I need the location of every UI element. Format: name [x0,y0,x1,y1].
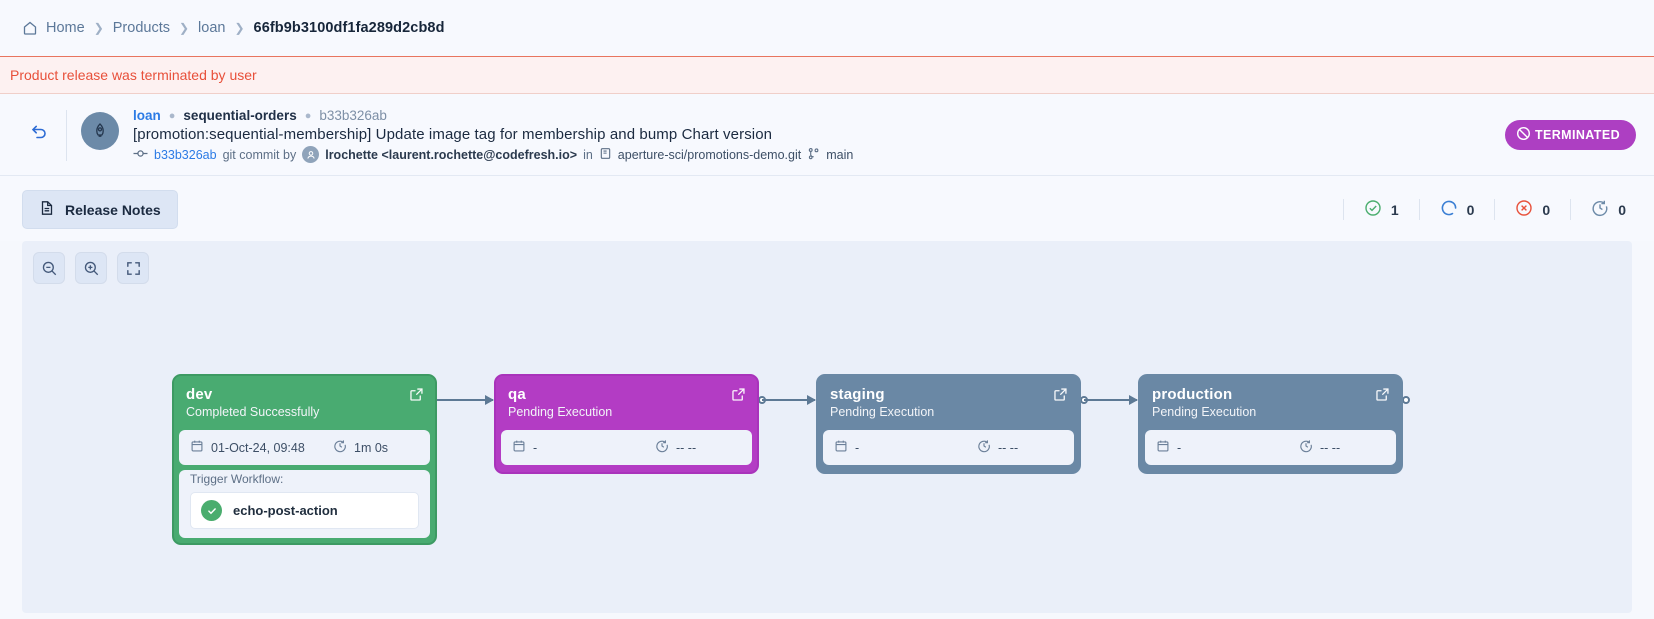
calendar-icon [834,439,848,456]
counter-succeeded[interactable]: 1 [1343,199,1420,220]
zoom-in-button[interactable] [75,252,107,284]
connector-qa-staging [762,399,815,401]
breadcrumb: Home ❯ Products ❯ loan ❯ 66fb9b3100df1fa… [0,0,1654,56]
error-circle-icon [1515,199,1533,220]
external-link-icon[interactable] [1053,387,1068,405]
stage-duration: -- -- [1299,439,1385,456]
calendar-icon [190,439,204,456]
stage-date: - [834,439,859,456]
tab-release-notes-label: Release Notes [65,202,161,218]
clock-icon [333,439,347,456]
stage-duration-value: -- -- [676,441,696,455]
breadcrumb-home-label[interactable]: Home [46,20,85,36]
tab-release-notes[interactable]: Release Notes [22,190,178,229]
branch-name: main [826,148,853,162]
status-badge[interactable]: TERMINATED [1505,120,1636,150]
canvas-zoom-tools [33,252,149,284]
clock-icon [1591,199,1609,220]
spinner-icon [1440,199,1458,220]
stage-duration-value: -- -- [998,441,1018,455]
pipeline-canvas[interactable]: dev Completed Successfully 01-Oct-24, [22,241,1632,613]
stage-header: qa Pending Execution [496,376,757,430]
clock-icon [1299,439,1313,456]
breadcrumb-current-id: 66fb9b3100df1fa289d2cb8d [254,20,445,36]
counter-pending-value: 0 [1618,202,1626,218]
rocket-icon [81,112,119,150]
connector-dot [1402,396,1410,404]
stage-name: dev [186,386,423,403]
stage-status: Pending Execution [1152,405,1389,419]
stage-meta: 01-Oct-24, 09:48 1m 0s [179,430,430,465]
stage-duration: -- -- [977,439,1063,456]
release-title: [promotion:sequential-membership] Update… [133,126,853,143]
workflow-success-icon [201,500,222,521]
connector-staging-production [1084,399,1137,401]
check-circle-icon [1364,199,1382,220]
stage-date-value: - [1177,441,1181,455]
external-link-icon[interactable] [409,387,424,405]
repository-name: aperture-sci/promotions-demo.git [618,148,801,162]
breadcrumb-products[interactable]: Products [113,20,170,36]
stage-date-value: 01-Oct-24, 09:48 [211,441,305,455]
breadcrumb-home[interactable]: Home [22,20,85,36]
release-sha: b33b326ab [319,108,387,123]
stage-status: Completed Successfully [186,405,423,419]
stage-duration-value: 1m 0s [354,441,388,455]
dot-separator-icon: ● [305,110,312,122]
status-badge-label: TERMINATED [1535,128,1620,142]
commit-sha-link[interactable]: b33b326ab [154,148,217,162]
stage-meta: - -- -- [823,430,1074,465]
breadcrumb-separator-icon: ❯ [94,21,104,35]
stage-duration: -- -- [655,439,741,456]
stage-card-staging[interactable]: staging Pending Execution - [816,374,1081,474]
stage-card-qa[interactable]: qa Pending Execution - [494,374,759,474]
back-button[interactable] [22,116,56,150]
clock-icon [977,439,991,456]
commit-author: lrochette <laurent.rochette@codefresh.io… [325,148,577,162]
stage-trigger-zone: Trigger Workflow: echo-post-action [179,470,430,538]
external-link-icon[interactable] [731,387,746,405]
clock-icon [655,439,669,456]
release-header: loan ● sequential-orders ● b33b326ab [pr… [0,94,1654,176]
counter-running[interactable]: 0 [1420,199,1496,220]
external-link-icon[interactable] [1375,387,1390,405]
stage-card-production[interactable]: production Pending Execution - [1138,374,1403,474]
home-icon [22,20,38,36]
in-label: in [583,148,593,162]
trigger-workflow-label: Trigger Workflow: [190,470,419,492]
stage-date: 01-Oct-24, 09:48 [190,439,305,456]
stage-meta: - -- -- [1145,430,1396,465]
commit-icon [133,148,148,162]
header-divider [66,110,67,161]
stage-status: Pending Execution [830,405,1067,419]
stage-header: dev Completed Successfully [174,376,435,430]
tabs-row: Release Notes 1 0 [0,176,1654,241]
stage-name: qa [508,386,745,403]
stage-date: - [512,439,537,456]
stage-header: production Pending Execution [1140,376,1401,430]
stage-header: staging Pending Execution [818,376,1079,430]
breadcrumb-separator-icon: ❯ [179,21,189,35]
counter-pending[interactable]: 0 [1571,199,1632,220]
release-commit-line: b33b326ab git commit by lrochette <laure… [133,146,853,163]
stage-name: staging [830,386,1067,403]
stage-status: Pending Execution [508,405,745,419]
repository-icon [599,147,612,163]
calendar-icon [1156,439,1170,456]
workflow-row[interactable]: echo-post-action [190,492,419,529]
calendar-icon [512,439,526,456]
document-icon [39,200,55,219]
counter-running-value: 0 [1467,202,1475,218]
stage-meta: - -- -- [501,430,752,465]
stage-duration-value: -- -- [1320,441,1340,455]
fit-screen-button[interactable] [117,252,149,284]
breadcrumb-separator-icon: ❯ [234,21,244,35]
commit-by-label: git commit by [223,148,297,162]
alert-message: Product release was terminated by user [10,67,257,83]
status-counters: 1 0 0 [1343,199,1632,220]
stage-date-value: - [855,441,859,455]
counter-failed[interactable]: 0 [1495,199,1571,220]
breadcrumb-product[interactable]: loan [198,20,225,36]
alert-banner: Product release was terminated by user [0,56,1654,94]
release-product-link[interactable]: loan [133,108,161,123]
release-flow-name: sequential-orders [183,108,296,123]
counter-succeeded-value: 1 [1391,202,1399,218]
terminated-icon [1516,126,1531,144]
release-info: loan ● sequential-orders ● b33b326ab [pr… [133,108,853,163]
stage-card-dev[interactable]: dev Completed Successfully 01-Oct-24, [172,374,437,545]
branch-icon [807,147,820,163]
connector-dev-qa [436,399,493,401]
counter-failed-value: 0 [1542,202,1550,218]
stage-date-value: - [533,441,537,455]
avatar [302,146,319,163]
stage-date: - [1156,439,1181,456]
dot-separator-icon: ● [169,110,176,122]
stage-duration: 1m 0s [333,439,419,456]
stage-name: production [1152,386,1389,403]
release-identity-line: loan ● sequential-orders ● b33b326ab [133,108,853,123]
workflow-name: echo-post-action [233,503,338,518]
zoom-out-button[interactable] [33,252,65,284]
